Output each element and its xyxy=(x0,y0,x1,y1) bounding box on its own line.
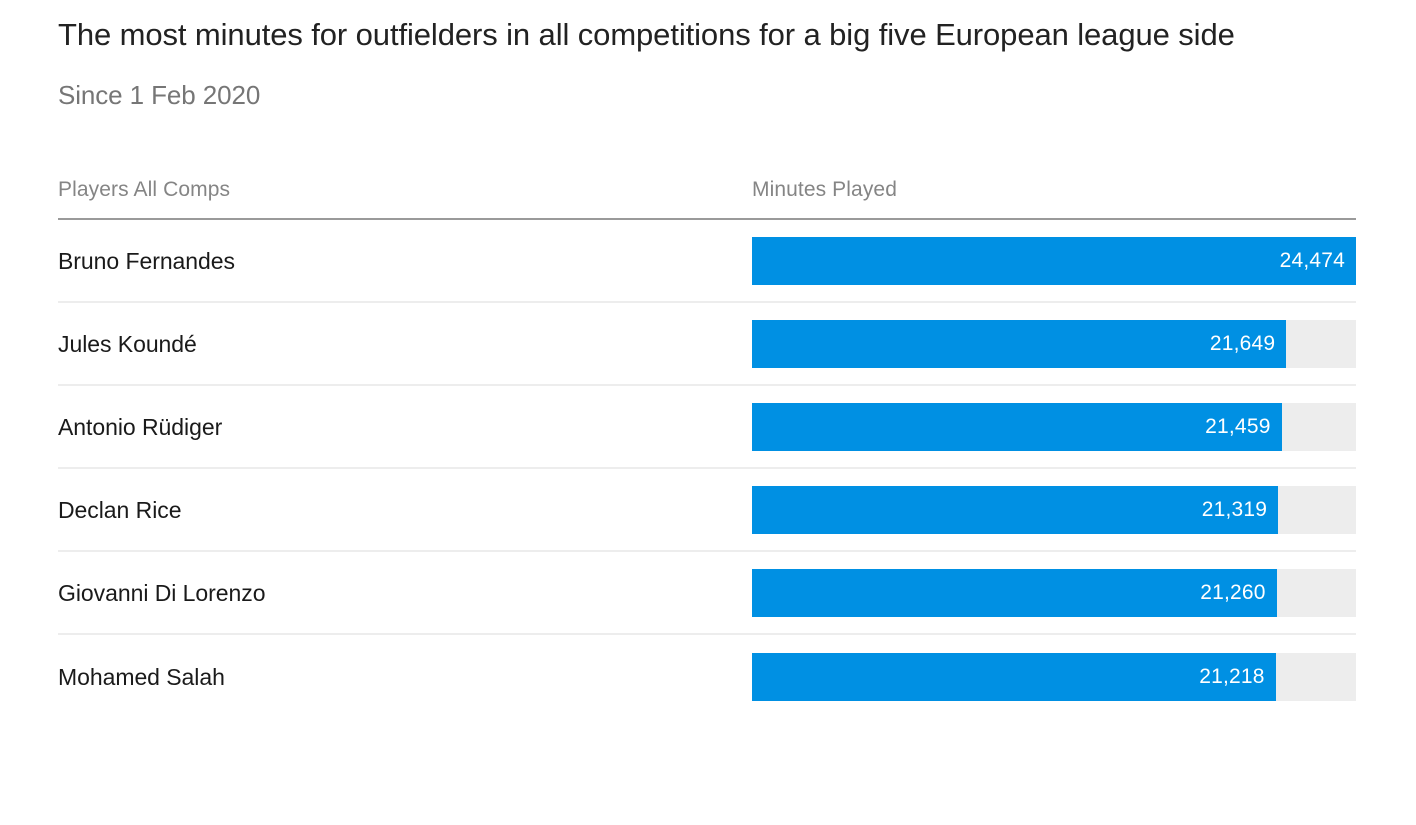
bar-fill: 21,649 xyxy=(752,320,1286,368)
bar-cell: 21,260 xyxy=(752,569,1356,617)
player-name: Declan Rice xyxy=(58,496,752,524)
bar-fill: 24,474 xyxy=(752,237,1356,285)
bar-value-label: 21,218 xyxy=(1199,664,1275,689)
bar-fill: 21,260 xyxy=(752,569,1277,617)
bar-fill: 21,218 xyxy=(752,653,1276,701)
bar-value-label: 24,474 xyxy=(1280,248,1356,273)
table-row: Giovanni Di Lorenzo21,260 xyxy=(58,552,1356,635)
table-body: Bruno Fernandes24,474Jules Koundé21,649A… xyxy=(58,220,1356,718)
table-row: Bruno Fernandes24,474 xyxy=(58,220,1356,303)
bar-fill: 21,319 xyxy=(752,486,1278,534)
player-name: Giovanni Di Lorenzo xyxy=(58,579,752,607)
chart-page: The most minutes for outfielders in all … xyxy=(0,0,1416,825)
page-subtitle: Since 1 Feb 2020 xyxy=(58,55,1356,111)
table-row: Mohamed Salah21,218 xyxy=(58,635,1356,718)
column-header-minutes: Minutes Played xyxy=(752,177,1356,202)
bar-value-label: 21,260 xyxy=(1200,580,1276,605)
table-row: Jules Koundé21,649 xyxy=(58,303,1356,386)
player-name: Mohamed Salah xyxy=(58,663,752,691)
bar-value-label: 21,319 xyxy=(1202,497,1278,522)
bar-cell: 24,474 xyxy=(752,237,1356,285)
page-title: The most minutes for outfielders in all … xyxy=(58,0,1238,55)
bar-cell: 21,218 xyxy=(752,653,1356,701)
bar-fill: 21,459 xyxy=(752,403,1282,451)
bar-cell: 21,649 xyxy=(752,320,1356,368)
bar-value-label: 21,649 xyxy=(1210,331,1286,356)
table-row: Antonio Rüdiger21,459 xyxy=(58,386,1356,469)
table-header-row: Players All Comps Minutes Played xyxy=(58,158,1356,202)
player-name: Antonio Rüdiger xyxy=(58,413,752,441)
player-name: Jules Koundé xyxy=(58,330,752,358)
header-block: The most minutes for outfielders in all … xyxy=(0,0,1416,111)
bar-table: Players All Comps Minutes Played Bruno F… xyxy=(0,158,1416,718)
bar-value-label: 21,459 xyxy=(1205,414,1281,439)
player-name: Bruno Fernandes xyxy=(58,247,752,275)
bar-cell: 21,459 xyxy=(752,403,1356,451)
column-header-players: Players All Comps xyxy=(58,177,752,202)
bar-cell: 21,319 xyxy=(752,486,1356,534)
table-row: Declan Rice21,319 xyxy=(58,469,1356,552)
